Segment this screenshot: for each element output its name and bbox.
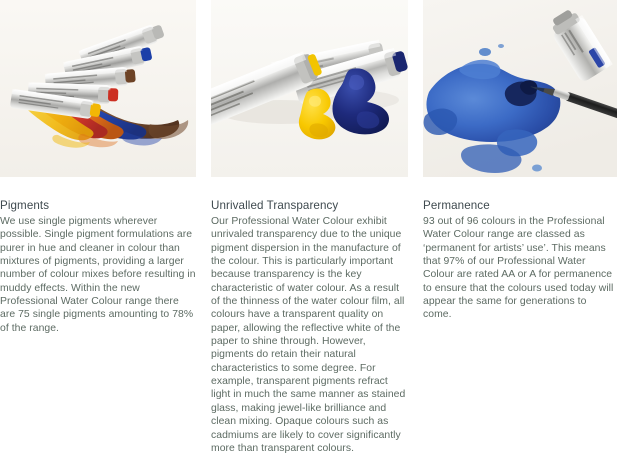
card-heading: Pigments — [0, 198, 196, 213]
watercolour-wash-illustration — [423, 0, 617, 177]
card-heading: Permanence — [423, 198, 617, 213]
two-tubes-yellow-and-blue-paint-photo — [211, 0, 408, 177]
card-heading: Unrivalled Transparency — [211, 198, 408, 213]
feature-card-permanence: Permanence 93 out of 96 colours in the P… — [423, 0, 617, 322]
card-body: Our Professional Water Colour exhibit un… — [211, 215, 408, 455]
feature-columns: Pigments We use single pigments wherever… — [0, 0, 617, 455]
tube-fan-illustration — [0, 0, 196, 177]
feature-card-transparency: Unrivalled Transparency Our Professional… — [211, 0, 408, 455]
paint-feature-page: Pigments We use single pigments wherever… — [0, 0, 617, 421]
feature-card-pigments: Pigments We use single pigments wherever… — [0, 0, 196, 335]
two-tubes-illustration — [211, 0, 408, 177]
blue-watercolour-wash-with-tube-and-brush-photo — [423, 0, 617, 177]
card-body: 93 out of 96 colours in the Professional… — [423, 215, 617, 322]
card-body: We use single pigments wherever possible… — [0, 215, 196, 335]
paint-tubes-fanned-with-flowing-colours-photo — [0, 0, 196, 177]
